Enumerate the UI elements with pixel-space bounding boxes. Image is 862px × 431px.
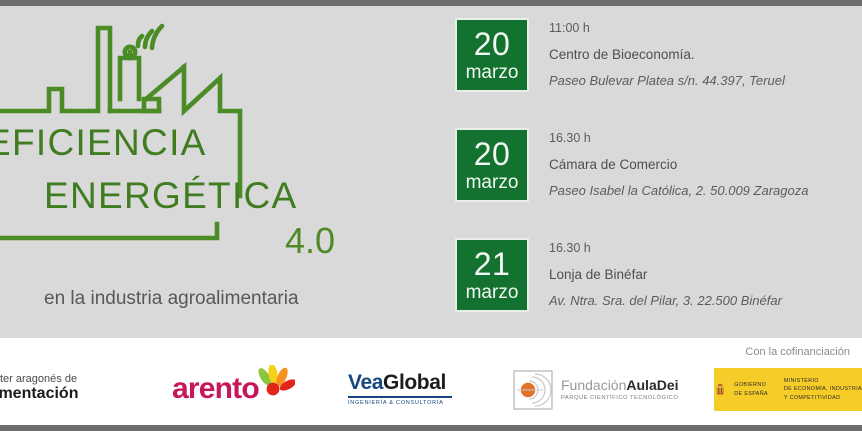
poster-title: EFICIENCIA ENERGÉTICA 4.0 bbox=[0, 124, 372, 259]
date-month: marzo bbox=[466, 173, 519, 192]
sponsor-footer: Con la cofinanciación Clúster aragonés d… bbox=[0, 338, 862, 425]
auladei-word-part2: AulaDei bbox=[626, 377, 678, 393]
date-day: 21 bbox=[474, 248, 511, 280]
event-venue: Cámara de Comercio bbox=[549, 158, 808, 172]
auladei-logo: FundaciónAulaDei PARQUE CIENTÍFICO TECNO… bbox=[513, 370, 679, 410]
date-badge: 21 marzo bbox=[455, 238, 529, 312]
event-item: 20 marzo 16.30 h Cámara de Comercio Pase… bbox=[455, 128, 808, 202]
event-venue: Lonja de Binéfar bbox=[549, 268, 782, 282]
event-item: 21 marzo 16.30 h Lonja de Binéfar Av. Nt… bbox=[455, 238, 782, 312]
bottom-chrome-bar bbox=[0, 425, 862, 431]
gobierno-de-espana-logo: GOBIERNO DE ESPAÑA MINISTERIO DE ECONOMÍ… bbox=[714, 368, 862, 411]
event-details: 16.30 h Lonja de Binéfar Av. Ntra. Sra. … bbox=[549, 238, 782, 307]
top-chrome-bar bbox=[0, 0, 862, 6]
date-month: marzo bbox=[466, 283, 519, 302]
auladei-tagline: PARQUE CIENTÍFICO TECNOLÓGICO bbox=[561, 395, 679, 401]
event-address: Av. Ntra. Sra. del Pilar, 3. 22.500 Biné… bbox=[549, 294, 782, 307]
arento-wordmark: arento bbox=[172, 374, 259, 404]
event-time: 16.30 h bbox=[549, 242, 782, 255]
gobierno-line2: DE ESPAÑA bbox=[734, 390, 768, 398]
cluster-logo-line2: Alimentación bbox=[0, 386, 78, 403]
veaglobal-divider bbox=[348, 396, 452, 398]
agenda-list: 20 marzo 11:00 h Centro de Bioeconomía. … bbox=[440, 6, 862, 338]
ministerio-line2: DE ECONOMÍA, INDUSTRIA bbox=[784, 385, 862, 393]
ministerio-text: MINISTERIO DE ECONOMÍA, INDUSTRIA Y COMP… bbox=[784, 377, 862, 402]
date-month: marzo bbox=[466, 63, 519, 82]
hero-panel: EFICIENCIA ENERGÉTICA 4.0 en la industri… bbox=[0, 6, 862, 338]
poster-subtitle: en la industria agroalimentaria bbox=[44, 288, 299, 310]
date-badge: 20 marzo bbox=[455, 18, 529, 92]
ministerio-line3: Y COMPETITIVIDAD bbox=[784, 394, 862, 402]
cluster-logo-line1: Clúster aragonés de bbox=[0, 374, 78, 386]
title-version: 4.0 bbox=[285, 223, 372, 259]
arento-flower-icon bbox=[253, 365, 295, 399]
event-details: 16.30 h Cámara de Comercio Paseo Isabel … bbox=[549, 128, 808, 197]
ministerio-line1: MINISTERIO bbox=[784, 377, 862, 385]
gobierno-line1: GOBIERNO bbox=[734, 381, 768, 389]
title-line-1: EFICIENCIA bbox=[0, 124, 372, 161]
veaglobal-tagline: INGENIERÍA & CONSULTORÍA bbox=[348, 400, 444, 406]
event-time: 16.30 h bbox=[549, 132, 808, 145]
spanish-coat-of-arms-icon bbox=[714, 373, 726, 407]
veaglobal-logo: VeaGlobal INGENIERÍA & CONSULTORÍA bbox=[348, 372, 452, 406]
auladei-word-part1: Fundación bbox=[561, 377, 626, 393]
auladei-target-icon bbox=[513, 370, 553, 410]
date-badge: 20 marzo bbox=[455, 128, 529, 202]
veaglobal-word-part1: Vea bbox=[348, 371, 383, 394]
branding-block: EFICIENCIA ENERGÉTICA 4.0 en la industri… bbox=[0, 6, 440, 338]
date-day: 20 bbox=[474, 138, 511, 170]
event-details: 11:00 h Centro de Bioeconomía. Paseo Bul… bbox=[549, 18, 785, 87]
title-line-2: ENERGÉTICA bbox=[44, 177, 372, 214]
event-time: 11:00 h bbox=[549, 22, 785, 35]
cluster-logo: Clúster aragonés de Alimentación bbox=[0, 374, 78, 402]
date-day: 20 bbox=[474, 28, 511, 60]
event-item: 20 marzo 11:00 h Centro de Bioeconomía. … bbox=[455, 18, 785, 92]
event-address: Paseo Isabel la Católica, 2. 50.009 Zara… bbox=[549, 184, 808, 197]
wifi-waves-icon bbox=[138, 26, 162, 48]
poster-root: EFICIENCIA ENERGÉTICA 4.0 en la industri… bbox=[0, 0, 862, 431]
arento-logo: arento bbox=[172, 374, 295, 404]
event-address: Paseo Bulevar Platea s/n. 44.397, Teruel bbox=[549, 74, 785, 87]
cofinance-label: Con la cofinanciación bbox=[745, 346, 850, 358]
event-venue: Centro de Bioeconomía. bbox=[549, 48, 785, 62]
gobierno-text: GOBIERNO DE ESPAÑA bbox=[734, 381, 768, 398]
veaglobal-word-part2: Global bbox=[383, 371, 446, 394]
